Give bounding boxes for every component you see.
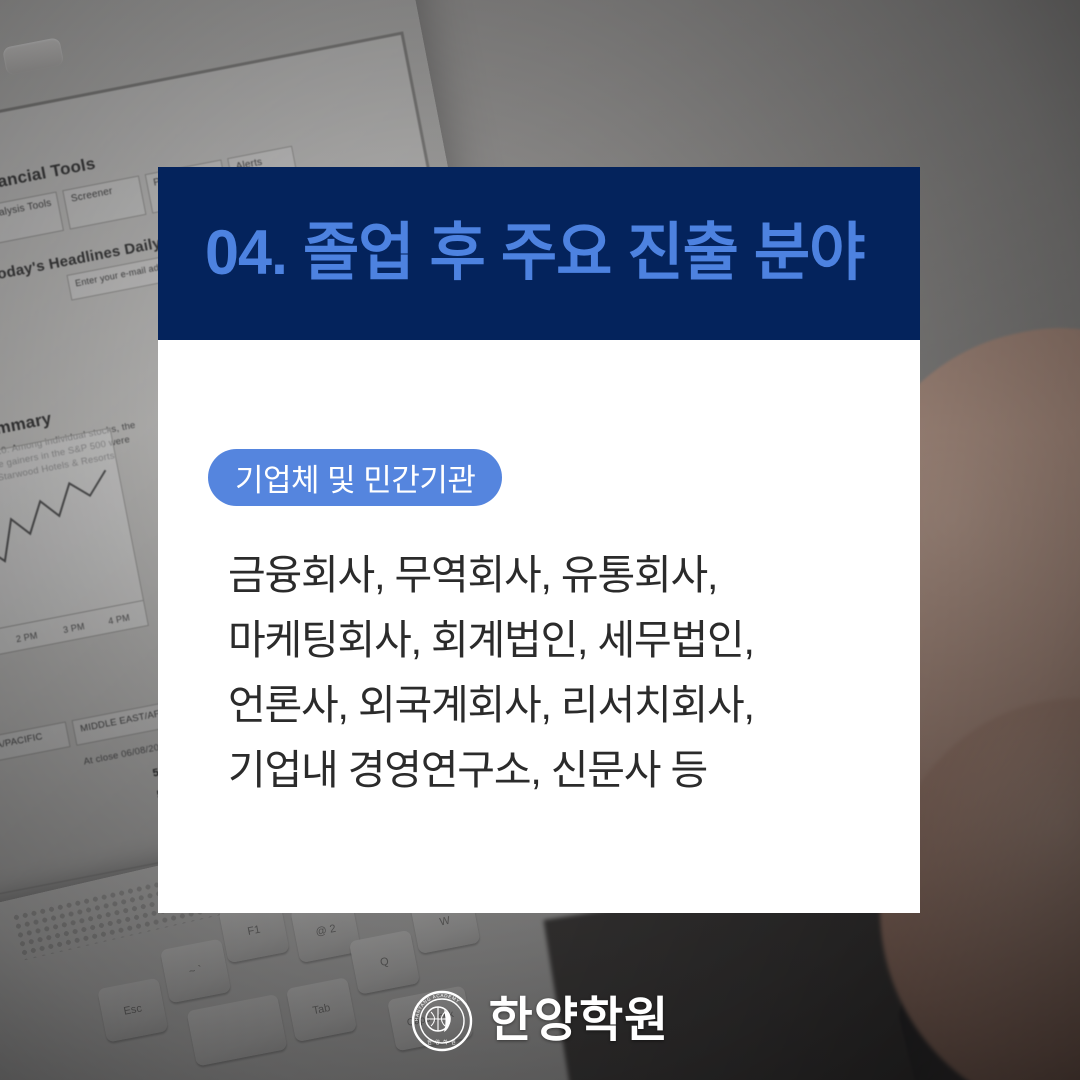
hanyang-academy-seal-icon: HANYANG ACADEMY 한 양 학 원 <box>411 990 473 1052</box>
poster-canvas: CONSUMER RATES Financial Tools Analysis … <box>0 0 1080 1080</box>
body-line-3: 언론사, 외국계회사, 리서치회사, <box>228 673 828 738</box>
webcam-icon <box>2 37 64 76</box>
body-line-2: 마케팅회사, 회계법인, 세무법인, <box>228 608 828 673</box>
page-title: 04. 졸업 후 주요 진출 분야 <box>205 222 864 285</box>
svg-text:4 PM: 4 PM <box>107 612 130 626</box>
svg-text:한 양 학 원: 한 양 학 원 <box>427 1039 457 1046</box>
tab-asia-pacific[interactable]: ASIA/PACIFIC <box>0 721 71 765</box>
nav-screener: Screener <box>62 175 146 229</box>
body-copy: 금융회사, 무역회사, 유통회사, 마케팅회사, 회계법인, 세무법인, 언론사… <box>228 543 828 803</box>
body-line-1: 금융회사, 무역회사, 유통회사, <box>228 543 828 608</box>
nav-analysis-tools: Analysis Tools <box>0 191 64 246</box>
body-line-4: 기업내 경영연구소, 신문사 등 <box>228 738 828 803</box>
key-q[interactable]: Q <box>349 930 420 995</box>
header-band: 04. 졸업 후 주요 진출 분야 <box>158 167 920 340</box>
footer-logo: HANYANG ACADEMY 한 양 학 원 한양학원 <box>0 990 1080 1052</box>
svg-text:2 PM: 2 PM <box>15 630 38 644</box>
footer-wordmark: 한양학원 <box>489 997 670 1045</box>
svg-text:3 PM: 3 PM <box>62 621 85 635</box>
category-badge: 기업체 및 민간기관 <box>208 449 502 506</box>
